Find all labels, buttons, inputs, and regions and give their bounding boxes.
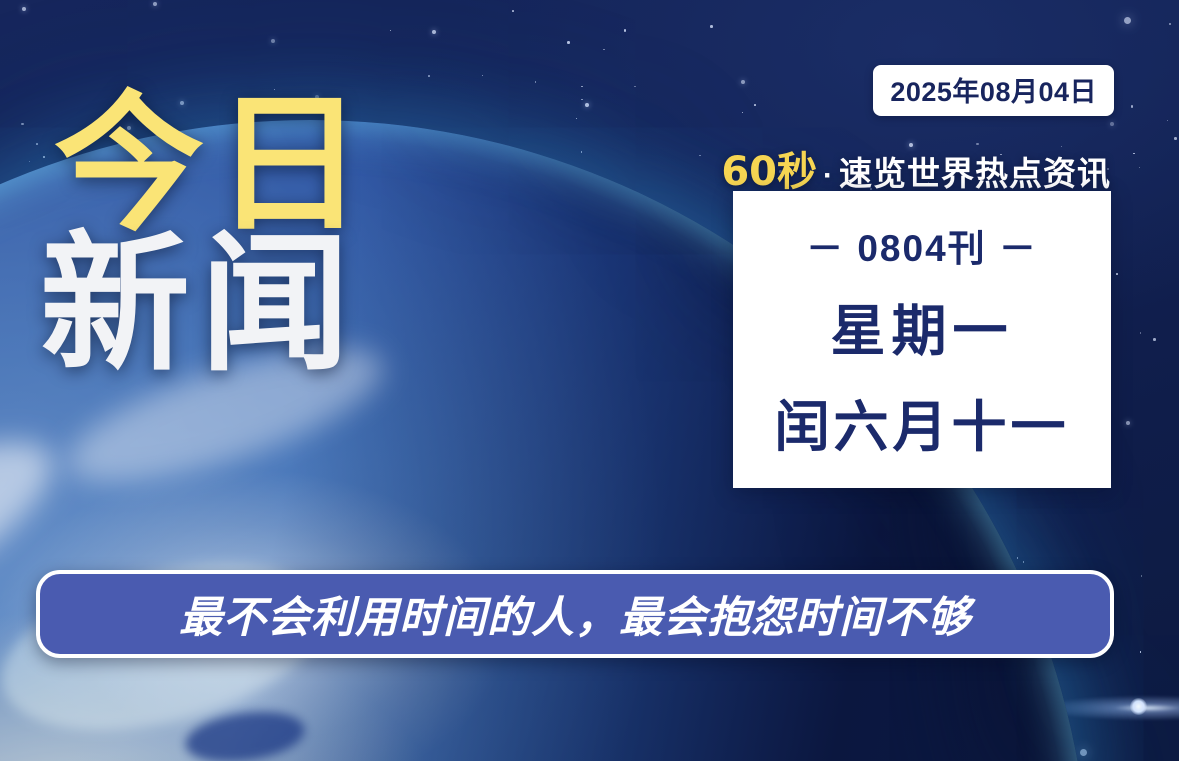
page-title-line2: 新闻 — [40, 236, 374, 374]
news-poster: 今日 新闻 2025年08月04日 60秒 · 速览世界热点资讯 － 0804刊… — [0, 0, 1179, 761]
page-title: 今日 新闻 — [54, 96, 374, 374]
tagline-seconds: 60秒 — [721, 139, 817, 197]
sea-black-sea — [182, 705, 308, 761]
lunar-date-label: 闰六月十一 — [774, 382, 1069, 462]
issue-number: － 0804刊 － — [806, 218, 1038, 272]
page-title-line1: 今日 — [54, 96, 374, 234]
quote-banner: 最不会利用时间的人，最会抱怨时间不够 — [36, 570, 1114, 658]
lens-flare-core-icon — [1130, 698, 1147, 715]
lens-flare-icon — [1039, 695, 1179, 721]
quote-text: 最不会利用时间的人，最会抱怨时间不够 — [179, 583, 971, 645]
date-badge: 2025年08月04日 — [873, 65, 1114, 116]
issue-card: － 0804刊 － 星期一 闰六月十一 — [733, 191, 1111, 488]
tagline-separator-icon: · — [823, 159, 833, 193]
weekday-label: 星期一 — [830, 286, 1013, 366]
tagline: 60秒 · 速览世界热点资讯 — [721, 139, 1111, 197]
cloud-band-1 — [0, 403, 78, 706]
tagline-subtitle: 速览世界热点资讯 — [839, 147, 1111, 195]
